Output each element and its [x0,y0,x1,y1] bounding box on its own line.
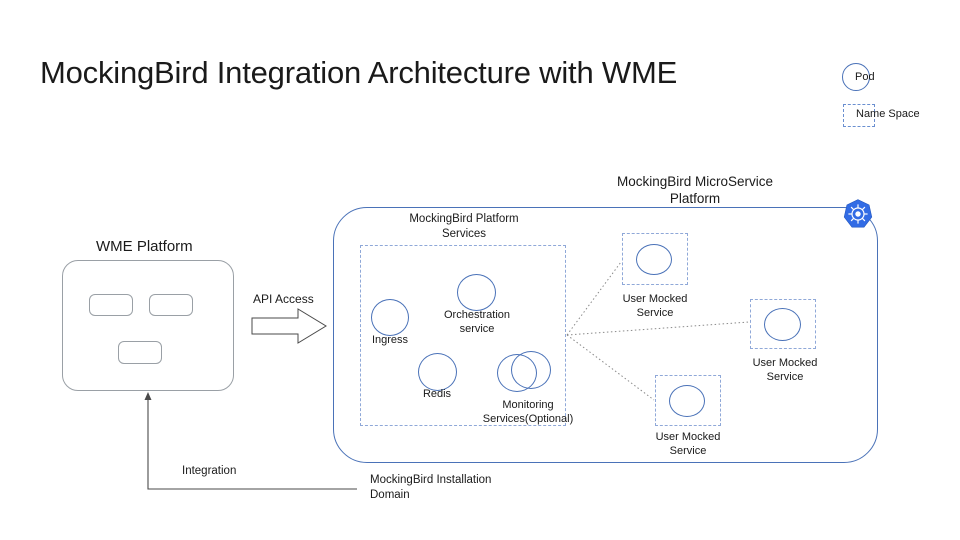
user-mocked-service-label-1: User Mocked Service [607,292,703,320]
pod-monitoring-services-front[interactable] [511,351,551,389]
wme-platform-slot-2 [149,294,193,316]
wme-platform-box [62,260,234,391]
user-mocked-service-label-3-line2: Service [640,444,736,458]
mockingbird-platform-title: MockingBird MicroService Platform [590,173,800,207]
pod-monitoring-services-label-line2: Services(Optional) [466,412,590,426]
wme-platform-title: WME Platform [96,238,193,255]
user-mocked-service-label-1-line2: Service [607,306,703,320]
pod-orchestration-service-label-line2: service [424,322,530,336]
pod-orchestration-service[interactable] [457,274,496,311]
integration-label: Integration [182,465,236,477]
platform-services-title-line1: MockingBird Platform [386,212,542,227]
pod-ingress[interactable] [371,299,409,336]
pod-orchestration-service-label: Orchestration service [424,308,530,336]
api-access-label: API Access [253,292,314,306]
block-arrow-right-icon [250,306,330,346]
legend-pod-label: Pod [855,71,875,83]
installation-domain-label: MockingBird Installation Domain [370,473,530,503]
integration-arrowhead-icon [145,392,152,400]
user-mocked-service-label-1-line1: User Mocked [607,292,703,306]
user-mocked-service-pod-1[interactable] [636,244,672,275]
pod-redis[interactable] [418,353,457,391]
user-mocked-service-pod-2[interactable] [764,308,801,341]
platform-services-title-line2: Services [386,227,542,242]
pod-monitoring-services-label-line1: Monitoring [466,398,590,412]
integration-line [148,398,357,489]
mockingbird-platform-title-line2: Platform [590,190,800,207]
user-mocked-service-label-2-line2: Service [737,370,833,384]
user-mocked-service-pod-3[interactable] [669,385,705,417]
wme-platform-slot-3 [118,341,162,364]
pod-ingress-label: Ingress [346,333,434,347]
pod-orchestration-service-label-line1: Orchestration [424,308,530,322]
mockingbird-platform-title-line1: MockingBird MicroService [590,173,800,190]
user-mocked-service-label-2: User Mocked Service [737,356,833,384]
page-title: MockingBird Integration Architecture wit… [40,55,677,91]
user-mocked-service-label-2-line1: User Mocked [737,356,833,370]
legend-namespace-label: Name Space [856,108,920,120]
installation-domain-label-line2: Domain [370,488,530,503]
platform-services-title: MockingBird Platform Services [386,212,542,242]
kubernetes-icon [843,199,873,229]
installation-domain-label-line1: MockingBird Installation [370,473,530,488]
user-mocked-service-label-3-line1: User Mocked [640,430,736,444]
user-mocked-service-label-3: User Mocked Service [640,430,736,458]
wme-platform-slot-1 [89,294,133,316]
diagram-canvas: MockingBird Integration Architecture wit… [0,0,960,540]
pod-monitoring-services-label: Monitoring Services(Optional) [466,398,590,426]
